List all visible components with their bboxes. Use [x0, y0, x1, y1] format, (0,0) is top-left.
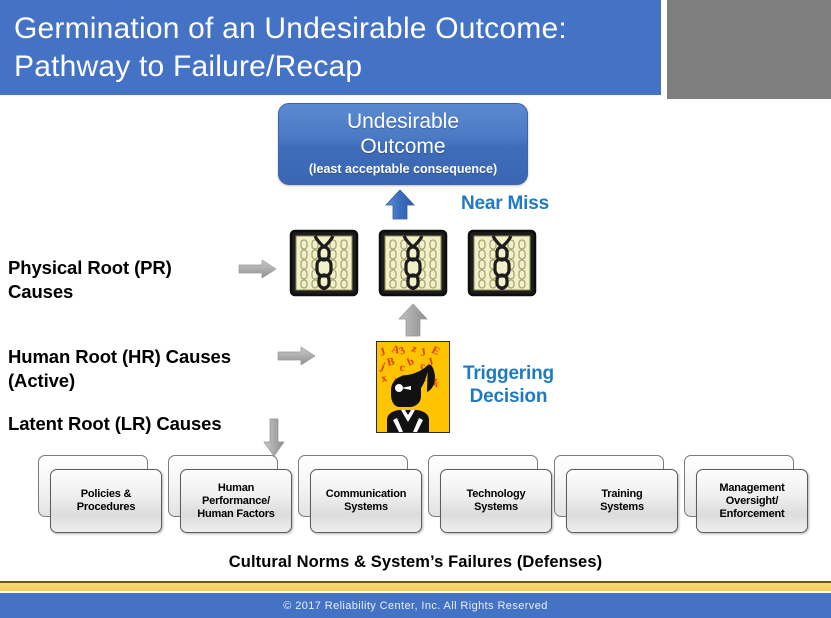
defense-box-face[interactable]: Training Systems — [566, 469, 678, 533]
defense-box-face[interactable]: Human Performance/ Human Factors — [180, 469, 292, 533]
footer-gold-bar — [0, 583, 831, 591]
thinking-head-letters-icon: J A 3 z J E j B c b c J x i c 2 c k — [376, 341, 450, 433]
defense-box-communication-systems[interactable]: Communication Systems — [298, 455, 422, 533]
defense-box-label: Management Oversight/ Enforcement — [716, 482, 787, 521]
slide-title-bar: Germination of an Undesirable Outcome: P… — [0, 0, 661, 95]
slide-canvas: Germination of an Undesirable Outcome: P… — [0, 0, 831, 618]
outcome-title-line2: Outcome — [279, 134, 527, 159]
triggering-decision-label: Triggering Decision — [463, 362, 554, 408]
arrow-right-gray-icon — [238, 258, 278, 280]
arrow-up-blue-icon — [383, 188, 417, 222]
defense-box-policies-procedures[interactable]: Policies & Procedures — [38, 455, 162, 533]
arrow-down-gray-icon — [262, 418, 286, 458]
arrow-up-gray-icon — [396, 302, 430, 338]
near-miss-label: Near Miss — [461, 193, 549, 215]
defense-box-training-systems[interactable]: Training Systems — [554, 455, 678, 533]
physical-root-causes-label: Physical Root (PR) Causes — [8, 256, 172, 304]
header-gray-block — [667, 0, 831, 99]
chain-link-barrier-3 — [466, 228, 538, 298]
undesirable-outcome-box[interactable]: Undesirable Outcome (least acceptable co… — [278, 103, 528, 185]
defense-box-label: Policies & Procedures — [74, 488, 139, 514]
chain-link-barrier-2 — [377, 228, 449, 298]
defense-box-face[interactable]: Technology Systems — [440, 469, 552, 533]
defenses-caption: Cultural Norms & System’s Failures (Defe… — [0, 553, 831, 572]
defense-box-face[interactable]: Policies & Procedures — [50, 469, 162, 533]
copyright-text: © 2017 Reliability Center, Inc. All Righ… — [0, 600, 831, 612]
defense-box-label: Human Performance/ Human Factors — [194, 482, 277, 521]
outcome-subtitle: (least acceptable consequence) — [279, 161, 527, 177]
human-root-causes-label: Human Root (HR) Causes (Active) — [8, 345, 231, 393]
defense-box-label: Training Systems — [597, 488, 647, 514]
latent-root-causes-label: Latent Root (LR) Causes — [8, 412, 222, 436]
arrow-right-gray-icon-2 — [277, 345, 317, 367]
chain-link-barrier-1 — [288, 228, 360, 298]
defense-box-label: Communication Systems — [323, 488, 410, 514]
defense-box-face[interactable]: Communication Systems — [310, 469, 422, 533]
outcome-title-line1: Undesirable — [279, 109, 527, 134]
defense-box-technology-systems[interactable]: Technology Systems — [428, 455, 552, 533]
defense-box-face[interactable]: Management Oversight/ Enforcement — [696, 469, 808, 533]
defense-box-human-performance[interactable]: Human Performance/ Human Factors — [168, 455, 292, 533]
page-title: Germination of an Undesirable Outcome: P… — [14, 10, 654, 86]
defense-box-label: Technology Systems — [464, 488, 529, 514]
defense-box-management-oversight[interactable]: Management Oversight/ Enforcement — [684, 455, 808, 533]
